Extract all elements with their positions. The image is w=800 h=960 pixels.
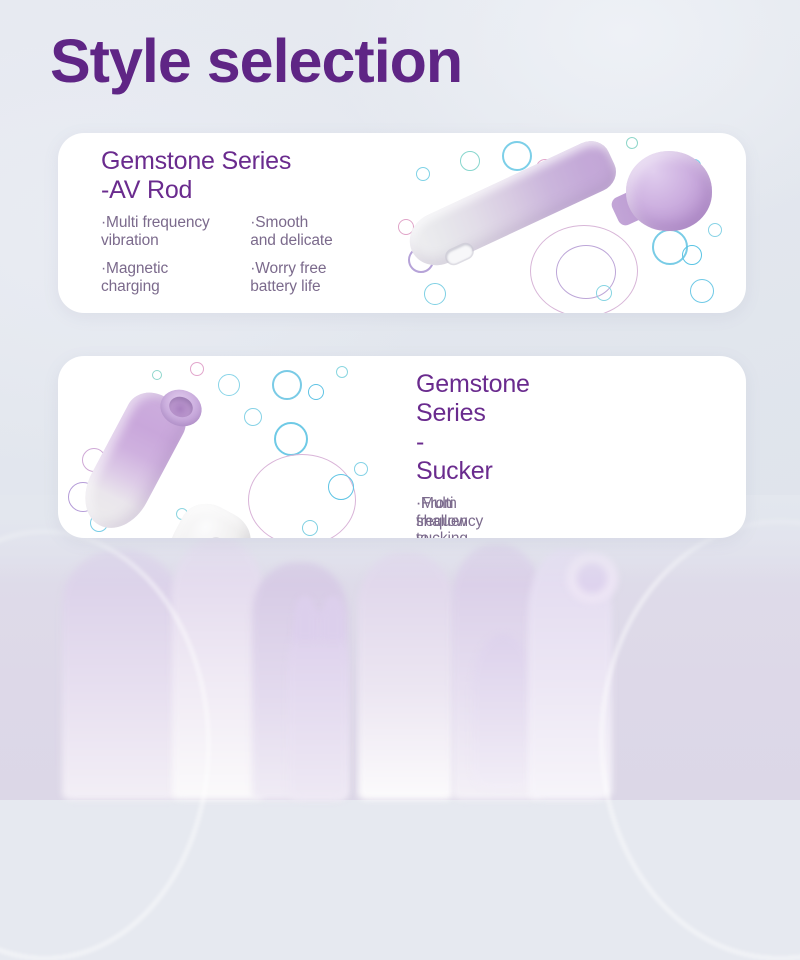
feature-item: ·Worry free battery life: [250, 260, 388, 295]
feature-item: ·Smooth and delicate: [250, 214, 388, 249]
wand-head-icon: [626, 151, 712, 231]
feature-item: ·Magnetic charging: [101, 260, 250, 295]
product-card-sucker[interactable]: Gemstone Series - Sucker ·Multi frequenc…: [58, 356, 746, 538]
av-rod-product-image: [390, 133, 746, 313]
card-heading-av-rod: Gemstone Series -AV Rod: [101, 147, 388, 205]
page-title: Style selection: [50, 27, 462, 95]
feature-list-av-rod: ·Multi frequency vibration ·Magnetic cha…: [101, 214, 388, 306]
product-card-av-rod[interactable]: Gemstone Series -AV Rod ·Multi frequency…: [58, 133, 746, 313]
feature-item: ·Multi frequency vibration: [101, 214, 250, 249]
